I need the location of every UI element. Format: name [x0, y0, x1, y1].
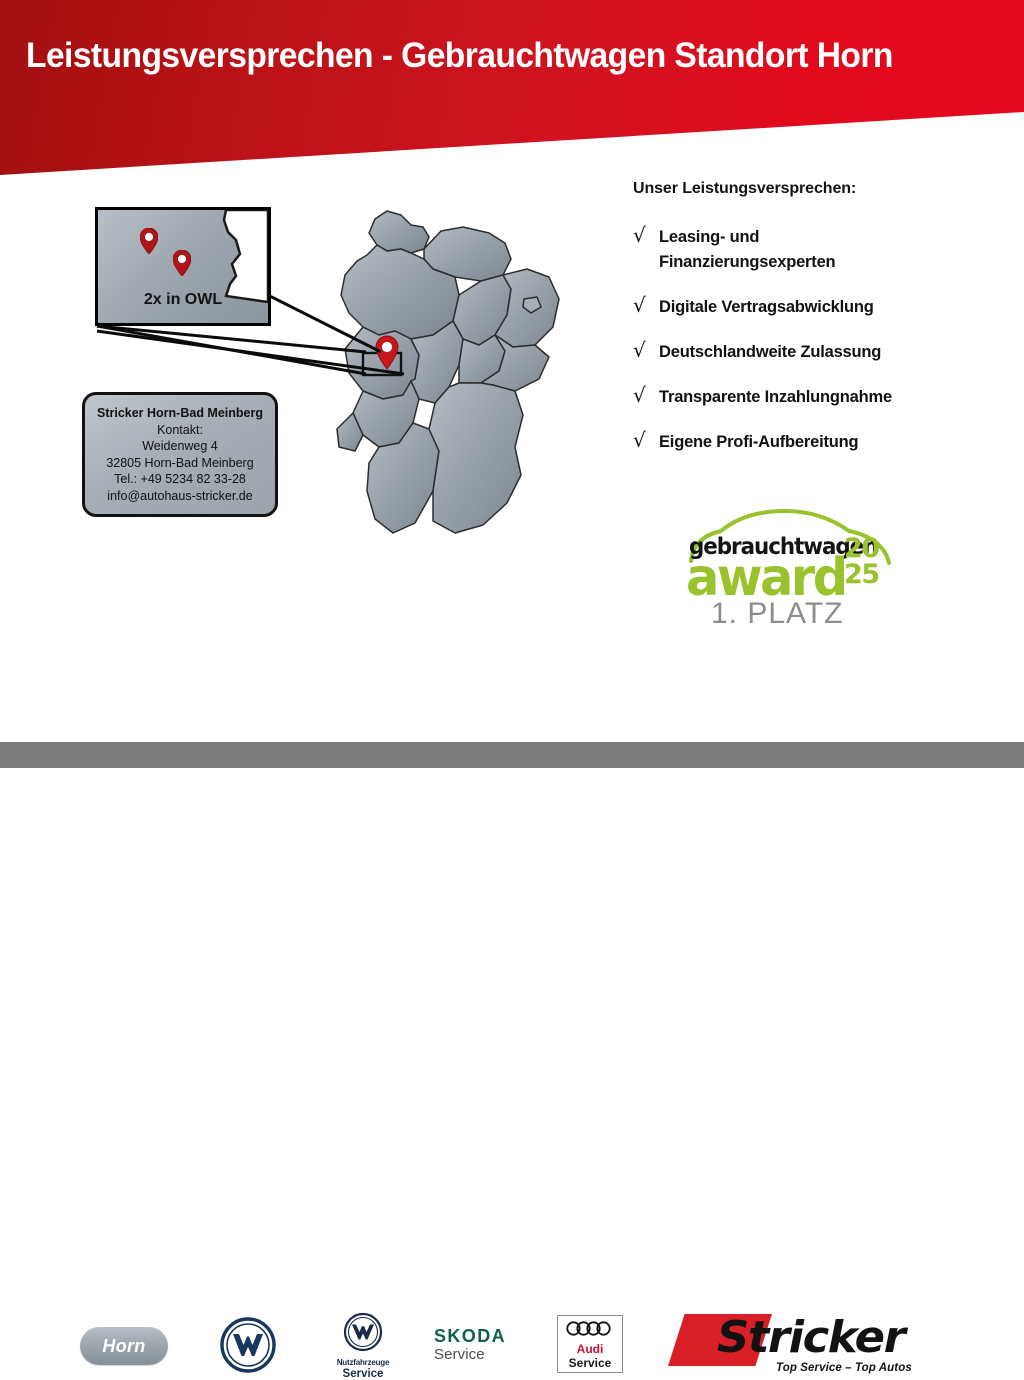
horn-badge-label: Horn: [102, 1336, 145, 1357]
vw-nfz-line1: Nutzfahrzeuge: [330, 1358, 396, 1367]
header-banner: [0, 0, 1024, 175]
gebrauchtwagen-award-logo: gebrauchtwagen award 20 25 1. PLATZ: [683, 505, 898, 630]
promise-item-3: √ Deutschlandweite Zulassung: [633, 340, 1003, 365]
promise-label: Transparente Inzahlungnahme: [659, 385, 892, 410]
skoda-wordmark: SKODA: [434, 1327, 544, 1346]
promise-item-2: √ Digitale Vertragsabwicklung: [633, 295, 1003, 320]
owl-pin-2: [173, 250, 191, 276]
stricker-tagline: Top Service – Top Autos: [776, 1362, 912, 1374]
audi-wordmark: Audi: [558, 1343, 622, 1356]
contact-box: Stricker Horn-Bad Meinberg Kontakt: Weid…: [82, 392, 278, 517]
owl-pin-1: [140, 228, 158, 254]
skoda-service-logo: SKODA Service: [434, 1327, 544, 1364]
contact-line-2: Kontakt:: [157, 422, 203, 439]
promise-item-5: √ Eigene Profi-Aufbereitung: [633, 430, 1003, 455]
promise-label: Eigene Profi-Aufbereitung: [659, 430, 858, 455]
contact-email: info@autohaus-stricker.de: [107, 488, 252, 505]
promise-item-4: √ Transparente Inzahlungnahme: [633, 385, 1003, 410]
audi-service-logo: Audi Service: [557, 1315, 623, 1373]
promise-list: √ Leasing- und Finanzierungsexperten √ D…: [633, 225, 1003, 475]
promise-label: Leasing- und Finanzierungsexperten: [659, 225, 835, 275]
contact-phone: Tel.: +49 5234 82 33-28: [114, 471, 246, 488]
contact-line-4: 32805 Horn-Bad Meinberg: [106, 455, 253, 472]
horn-badge: Horn: [80, 1327, 168, 1365]
promise-item-1: √ Leasing- und Finanzierungsexperten: [633, 225, 1003, 275]
award-year-bottom: 25: [844, 562, 879, 588]
germany-map: [283, 203, 583, 618]
footer-bar: [0, 742, 1024, 768]
owl-inset-map: 2x in OWL: [95, 207, 271, 326]
contact-line-3: Weidenweg 4: [142, 438, 218, 455]
check-icon: √: [633, 225, 659, 246]
audi-service-label: Service: [558, 1356, 622, 1370]
check-icon: √: [633, 295, 659, 316]
contact-line-1: Stricker Horn-Bad Meinberg: [97, 405, 263, 422]
germany-map-svg: [283, 203, 583, 618]
skoda-service-label: Service: [434, 1346, 544, 1364]
page-title: Leistungsversprechen - Gebrauchtwagen St…: [26, 36, 976, 76]
check-icon: √: [633, 430, 659, 451]
vw-nutzfahrzeuge-service-logo: Nutzfahrzeuge Service: [330, 1312, 396, 1376]
check-icon: √: [633, 340, 659, 361]
vw-nfz-line2: Service: [330, 1368, 396, 1380]
promise-heading: Unser Leistungsversprechen:: [633, 180, 856, 198]
owl-inset-label: 2x in OWL: [98, 291, 268, 309]
brand-logo-strip: Horn Nutzfahrzeuge Service SKODA Service: [0, 650, 1024, 742]
promise-label: Deutschlandweite Zulassung: [659, 340, 881, 365]
stricker-wordmark: Stricker: [717, 1314, 904, 1362]
slide-canvas: Leistungsversprechen - Gebrauchtwagen St…: [0, 0, 1024, 768]
award-rank: 1. PLATZ: [711, 597, 843, 631]
check-icon: √: [633, 385, 659, 406]
promise-label: Digitale Vertragsabwicklung: [659, 295, 874, 320]
volkswagen-logo-icon: [219, 1316, 277, 1374]
volkswagen-logo-icon: [343, 1312, 383, 1352]
stricker-logo: Stricker Top Service – Top Autos: [668, 1310, 948, 1378]
audi-rings-icon: [566, 1321, 614, 1336]
award-year: 20 25: [844, 536, 879, 588]
